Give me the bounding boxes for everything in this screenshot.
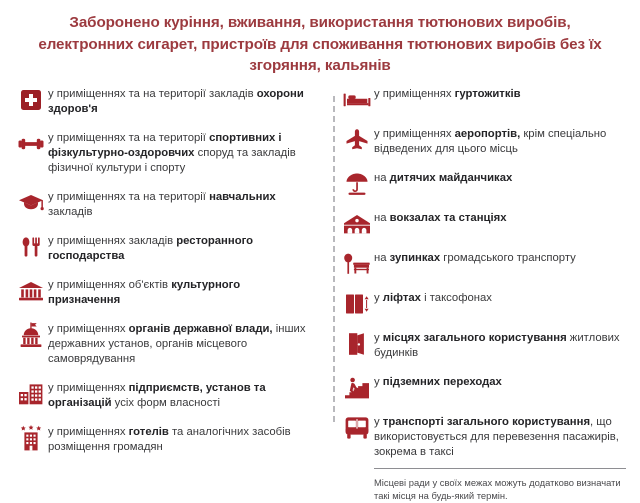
list-item-text-2: у приміщеннях та на території навчальних…	[48, 189, 310, 220]
list-item-text-1: у приміщеннях аеропортів, крім спеціальн…	[374, 126, 626, 157]
list-item-text-3: на вокзалах та станціях	[374, 210, 626, 226]
page-title: Заборонено куріння, вживання, використан…	[0, 0, 640, 77]
list-item-text-5: у приміщеннях органів державної влади, і…	[48, 321, 310, 367]
bus-stop-icon	[340, 251, 374, 277]
list-item: у приміщеннях об'єктів культурного призн…	[14, 277, 310, 308]
list-item: у місцях загального користування житлови…	[340, 330, 626, 361]
bed-icon	[340, 87, 374, 113]
graduation-cap-icon	[14, 190, 48, 216]
list-item: у приміщеннях підприємств, установ та ор…	[14, 380, 310, 411]
list-item-text-4: на зупинках громадського транспорту	[374, 250, 626, 266]
underpass-stairs-icon	[340, 375, 374, 401]
railway-station-icon	[340, 211, 374, 237]
list-item: у приміщеннях та на території спортивних…	[14, 130, 310, 176]
bus-icon	[340, 415, 374, 441]
government-building-icon	[14, 322, 48, 348]
list-item-text-6: у приміщеннях підприємств, установ та ор…	[48, 380, 310, 411]
list-item: у приміщеннях закладів ресторанного госп…	[14, 233, 310, 264]
list-item: на зупинках громадського транспорту	[340, 250, 626, 277]
list-item-text-1: у приміщеннях та на території спортивних…	[48, 130, 310, 176]
columns-container: у приміщеннях та на території закладів о…	[0, 77, 640, 503]
left-column: у приміщеннях та на території закладів о…	[14, 86, 324, 503]
list-item-text-7: у підземних переходах	[374, 374, 626, 390]
list-item: у приміщеннях органів державної влади, і…	[14, 321, 310, 367]
medical-cross-icon	[14, 87, 48, 113]
list-item-text-0: у приміщеннях гуртожитків	[374, 86, 626, 102]
fork-spoon-icon	[14, 234, 48, 260]
list-item-text-5: у ліфтах і таксофонах	[374, 290, 626, 306]
list-item: у приміщеннях аеропортів, крім спеціальн…	[340, 126, 626, 157]
office-buildings-icon	[14, 381, 48, 407]
list-item-text-6: у місцях загального користування житлови…	[374, 330, 626, 361]
list-item: у підземних переходах	[340, 374, 626, 401]
hotel-icon	[14, 425, 48, 451]
infographic-poster: Заборонено куріння, вживання, використан…	[0, 0, 640, 455]
playground-umbrella-icon	[340, 171, 374, 197]
airplane-icon	[340, 127, 374, 153]
list-item: на вокзалах та станціях	[340, 210, 626, 237]
list-item-text-2: на дитячих майданчиках	[374, 170, 626, 186]
list-item: у приміщеннях гуртожитків	[340, 86, 626, 113]
list-item-text-8: у транспорті загального користування, що…	[374, 414, 626, 460]
list-item-text-3: у приміщеннях закладів ресторанного госп…	[48, 233, 310, 264]
list-item: у приміщеннях та на території навчальних…	[14, 189, 310, 220]
list-item-text-4: у приміщеннях об'єктів культурного призн…	[48, 277, 310, 308]
elevator-icon	[340, 291, 374, 317]
list-item: у транспорті загального користування, що…	[340, 414, 626, 460]
right-column: у приміщеннях гуртожитків у приміщеннях …	[324, 86, 626, 503]
list-item: на дитячих майданчиках	[340, 170, 626, 197]
footnote-text: Місцеві ради у своїх межах можуть додатк…	[374, 468, 626, 503]
list-item: у приміщеннях та на території закладів о…	[14, 86, 310, 117]
museum-icon	[14, 278, 48, 304]
list-item: у ліфтах і таксофонах	[340, 290, 626, 317]
open-door-icon	[340, 331, 374, 357]
dumbbell-icon	[14, 131, 48, 157]
list-item-text-0: у приміщеннях та на території закладів о…	[48, 86, 310, 117]
list-item-text-7: у приміщеннях готелів та аналогічних зас…	[48, 424, 310, 455]
list-item: у приміщеннях готелів та аналогічних зас…	[14, 424, 310, 455]
